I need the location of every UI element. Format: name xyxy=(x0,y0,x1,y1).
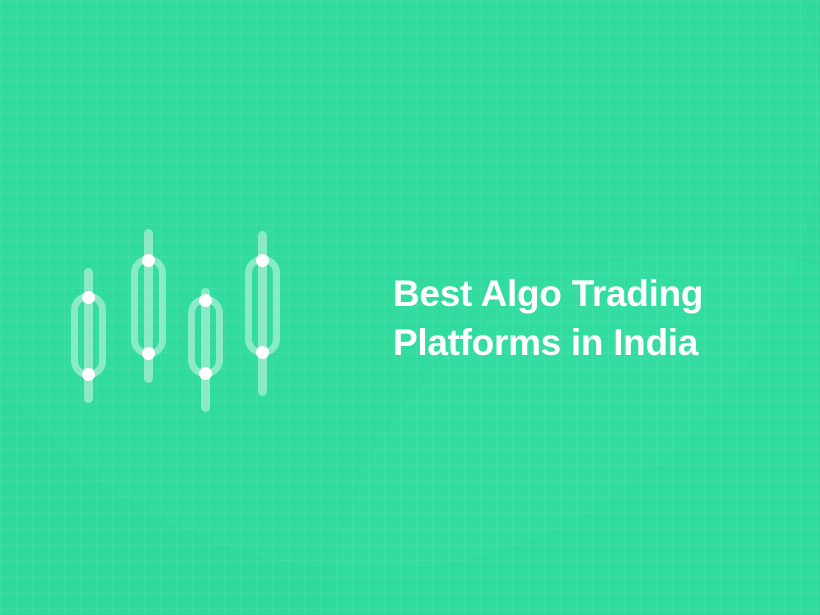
page-title-line-1: Best Algo Trading xyxy=(393,269,793,318)
candle-4-body xyxy=(245,256,280,356)
candlestick-chart-illustration xyxy=(0,0,360,615)
candle-2-dot-high xyxy=(142,254,155,267)
page-title-line-2: Platforms in India xyxy=(393,318,793,367)
candle-1-dot-low xyxy=(82,368,95,381)
candle-3-body xyxy=(188,296,223,377)
candle-2-dot-low xyxy=(142,347,155,360)
candle-4-dot-high xyxy=(256,254,269,267)
promo-banner: Best Algo Trading Platforms in India xyxy=(0,0,820,615)
candle-1-dot-high xyxy=(82,291,95,304)
candle-3-dot-low xyxy=(199,367,212,380)
candle-2-body xyxy=(131,256,166,357)
candle-4-dot-low xyxy=(256,346,269,359)
candle-3-dot-high xyxy=(199,294,212,307)
candle-1-body xyxy=(71,293,106,378)
page-title: Best Algo Trading Platforms in India xyxy=(393,269,793,367)
